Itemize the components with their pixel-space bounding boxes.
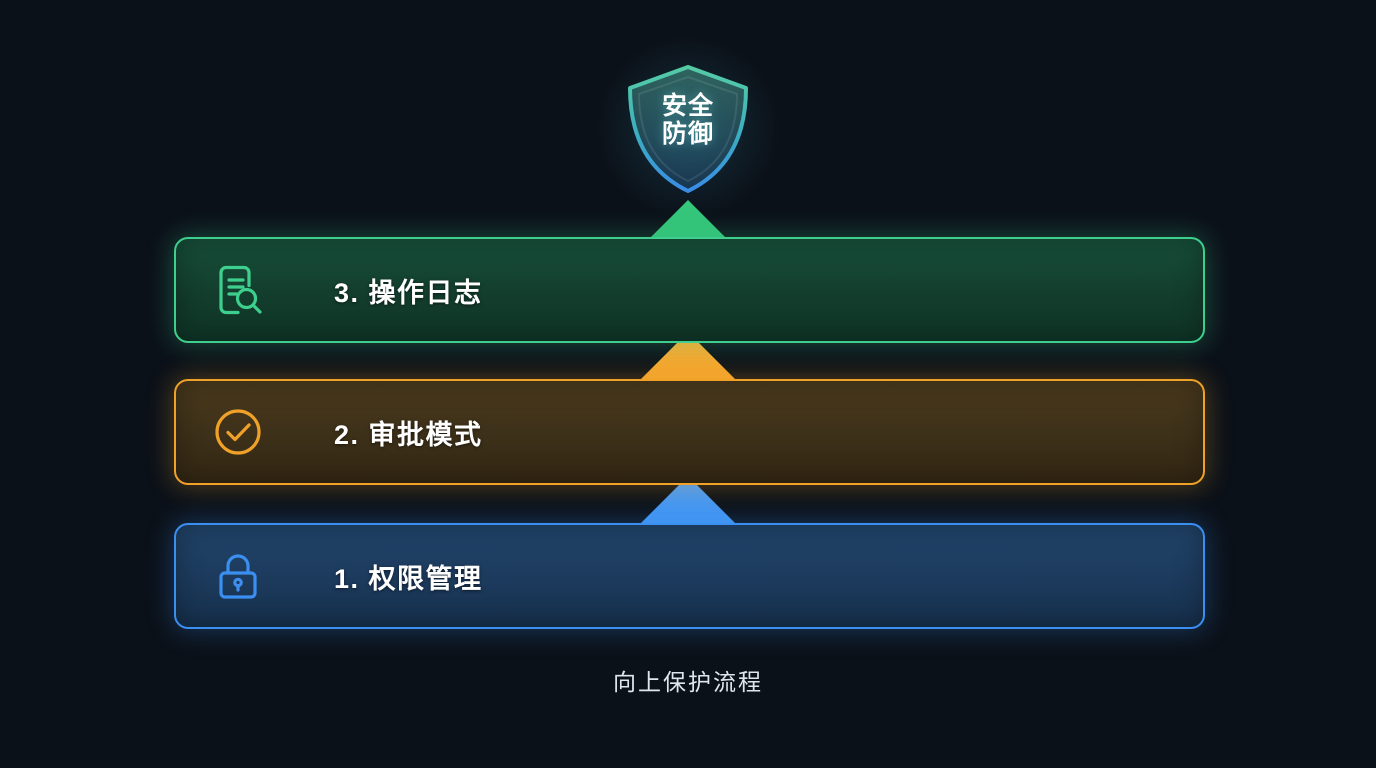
diagram-caption: 向上保护流程 [0,663,1376,697]
layer-operation-log-label: 3. 操作日志 [334,271,483,310]
lock-icon [212,550,264,602]
layer-approval-mode[interactable]: 2. 审批模式 [174,379,1205,485]
layer-permission-management-content: 1. 权限管理 [176,525,1203,627]
diagram-canvas: 安全 防御 [0,0,1376,768]
shield-icon [613,58,763,198]
security-shield: 安全 防御 [613,58,763,198]
check-circle-icon [212,406,264,458]
layer-approval-mode-label: 2. 审批模式 [334,413,483,452]
layer-permission-management[interactable]: 1. 权限管理 [174,523,1205,629]
layer-approval-mode-content: 2. 审批模式 [176,381,1203,483]
layer-operation-log-content: 3. 操作日志 [176,239,1203,341]
document-search-icon [212,264,264,316]
layer-operation-log[interactable]: 3. 操作日志 [174,237,1205,343]
layer-permission-management-label: 1. 权限管理 [334,557,483,596]
